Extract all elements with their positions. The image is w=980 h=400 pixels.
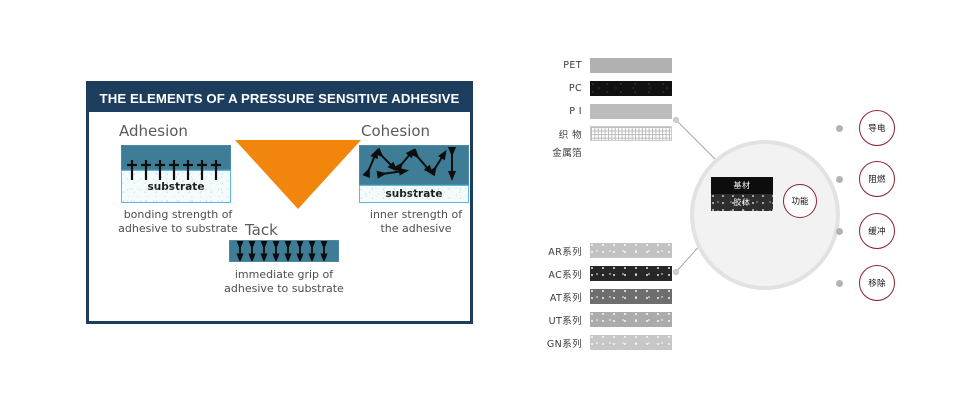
series-swatch-ut: [590, 312, 672, 327]
function-item-removable[interactable]: 移除: [836, 265, 895, 301]
adhesion-block: substrate: [121, 145, 231, 203]
material-row[interactable]: 金属箔: [528, 145, 582, 159]
core-substrate-label: 基材: [734, 180, 751, 191]
orange-triangle: [235, 140, 361, 209]
cohesion-block: substrate: [359, 145, 469, 203]
series-label: AT系列: [514, 290, 582, 304]
series-row[interactable]: AR系列: [514, 243, 672, 258]
tack-adhesive-layer: [229, 240, 339, 262]
material-label: PC: [528, 83, 582, 94]
function-ring: 移除: [859, 265, 895, 301]
connector-endpoint-top: [673, 117, 679, 123]
psa-banner: THE ELEMENTS OF A PRESSURE SENSITIVE ADH…: [89, 84, 470, 112]
series-row[interactable]: AC系列: [514, 266, 672, 281]
function-ring: 阻燃: [859, 161, 895, 197]
series-row[interactable]: GN系列: [514, 335, 672, 350]
material-label: 织 物: [528, 127, 582, 141]
bullet-dot-icon: [836, 176, 843, 183]
tack-caption: immediate grip of adhesive to substrate: [209, 268, 359, 296]
cohesion-substrate-label: substrate: [386, 188, 443, 200]
material-row[interactable]: 织 物: [528, 126, 672, 141]
material-row[interactable]: PC: [528, 81, 672, 96]
adhesion-title: Adhesion: [119, 122, 188, 140]
function-label: 导电: [868, 122, 886, 134]
material-label: PET: [528, 60, 582, 71]
adhesion-arrows-icon: [121, 159, 231, 183]
tack-arrows-icon: [230, 241, 338, 261]
adhesion-caption: bonding strength of adhesive to substrat…: [103, 208, 253, 236]
core-circle: [690, 140, 840, 290]
function-item-flame-retardant[interactable]: 阻燃: [836, 161, 895, 197]
series-label: UT系列: [514, 313, 582, 327]
psa-infographic-card: THE ELEMENTS OF A PRESSURE SENSITIVE ADH…: [86, 81, 473, 324]
series-swatch-gn: [590, 335, 672, 350]
function-ring: 导电: [859, 110, 895, 146]
cohesion-arrows-icon: [360, 146, 468, 184]
series-label: AC系列: [514, 267, 582, 281]
function-badge[interactable]: 功能: [783, 184, 817, 218]
bullet-dot-icon: [836, 125, 843, 132]
series-swatch-at: [590, 289, 672, 304]
material-label: 金属箔: [528, 145, 582, 159]
cohesion-caption: inner strength of the adhesive: [341, 208, 491, 236]
core-adhesive-label: 胶体: [734, 197, 751, 208]
series-label: AR系列: [514, 244, 582, 258]
material-swatch-fabric: [590, 126, 672, 141]
function-item-conductive[interactable]: 导电: [836, 110, 895, 146]
series-row[interactable]: UT系列: [514, 312, 672, 327]
material-swatch-pet: [590, 58, 672, 73]
canvas: THE ELEMENTS OF A PRESSURE SENSITIVE ADH…: [0, 0, 980, 400]
core-adhesive-row: 胶体: [711, 194, 773, 211]
series-swatch-ac: [590, 266, 672, 281]
connector-endpoint-bottom: [673, 269, 679, 275]
material-row[interactable]: PET: [528, 58, 672, 73]
tack-title: Tack: [245, 221, 278, 239]
bullet-dot-icon: [836, 280, 843, 287]
core-substrate-row: 基材: [711, 177, 773, 194]
cohesion-title: Cohesion: [361, 122, 430, 140]
function-badge-label: 功能: [791, 195, 808, 207]
cohesion-substrate-layer: substrate: [359, 185, 469, 203]
cohesion-adhesive-layer: [359, 145, 469, 185]
function-label: 阻燃: [868, 173, 886, 185]
function-label: 缓冲: [868, 225, 886, 237]
tack-block: [229, 240, 339, 262]
psa-body: Adhesion substrate: [89, 112, 470, 321]
series-row[interactable]: AT系列: [514, 289, 672, 304]
series-swatch-ar: [590, 243, 672, 258]
bullet-dot-icon: [836, 228, 843, 235]
function-ring: 缓冲: [859, 213, 895, 249]
material-label: P I: [528, 106, 582, 117]
material-swatch-pc: [590, 81, 672, 96]
psa-banner-title: THE ELEMENTS OF A PRESSURE SENSITIVE ADH…: [100, 91, 460, 106]
series-label: GN系列: [514, 336, 582, 350]
function-label: 移除: [868, 277, 886, 289]
material-swatch-pi: [590, 104, 672, 119]
material-row[interactable]: P I: [528, 104, 672, 119]
function-item-cushioning[interactable]: 缓冲: [836, 213, 895, 249]
core-structure-box[interactable]: 基材 胶体: [711, 177, 773, 211]
